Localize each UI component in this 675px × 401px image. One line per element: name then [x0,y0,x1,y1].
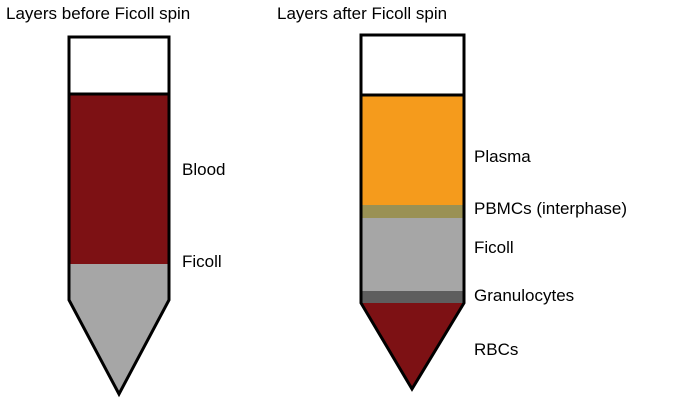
label-pbmcs: PBMCs (interphase) [474,199,627,219]
label-rbcs: RBCs [474,340,518,360]
right-tube-layer-air [361,35,464,95]
right-tube-layer-plasma [361,95,464,205]
right-tube-layer-pbmcs [361,205,464,218]
ficoll-separation-diagram: Layers before Ficoll spin Layers after F… [0,0,675,401]
label-ficoll-right: Ficoll [474,238,514,258]
label-plasma: Plasma [474,147,531,167]
right-tube-layer-granulocytes [361,291,464,303]
right-tube-layer-ficoll [361,218,464,291]
label-granulocytes: Granulocytes [474,286,574,306]
